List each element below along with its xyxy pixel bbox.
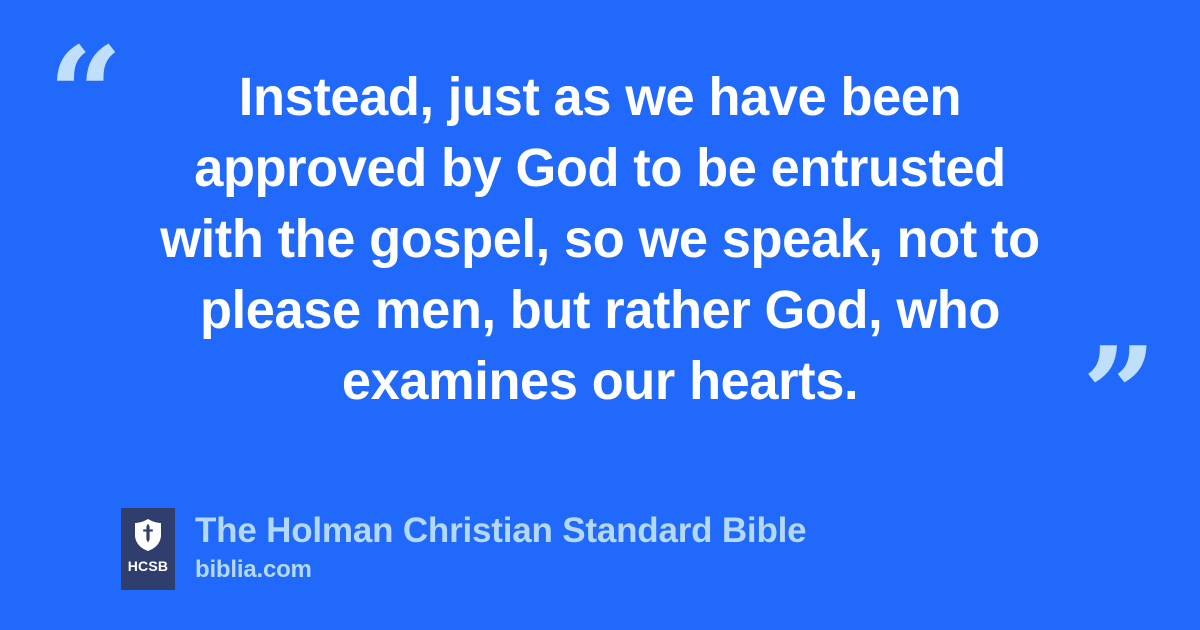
bible-version-title: The Holman Christian Standard Bible: [195, 511, 806, 551]
attribution-block: HCSB The Holman Christian Standard Bible…: [121, 508, 806, 590]
logo-abbreviation: HCSB: [128, 559, 168, 573]
quote-line: approved by God to be entrusted: [125, 133, 1076, 204]
attribution-text-group: The Holman Christian Standard Bible bibl…: [195, 508, 806, 584]
close-quote-icon: ”: [1082, 330, 1155, 460]
hcsb-logo-badge: HCSB: [121, 508, 175, 590]
quote-line: examines our hearts.: [125, 346, 1076, 417]
shield-with-sword-icon: [133, 518, 163, 552]
quote-line: please men, but rather God, who: [125, 275, 1076, 346]
quote-card: “ ” Instead, just as we have been approv…: [0, 0, 1200, 630]
quote-line: with the gospel, so we speak, not to: [125, 204, 1076, 275]
source-website-link[interactable]: biblia.com: [195, 556, 806, 584]
quote-text-block: Instead, just as we have been approved b…: [110, 62, 1090, 417]
quote-line: Instead, just as we have been: [125, 62, 1076, 133]
